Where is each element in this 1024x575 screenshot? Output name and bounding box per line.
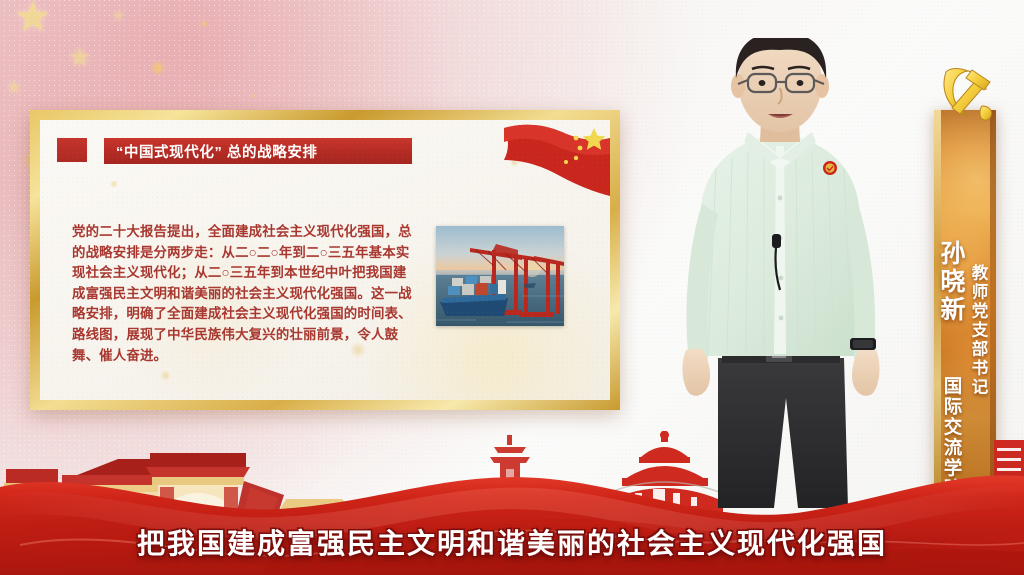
slide-speck <box>350 342 366 358</box>
speaker-name: 孙晓新 <box>938 240 968 324</box>
background-star-icon: ★ <box>68 44 91 70</box>
party-member-badge <box>823 161 837 175</box>
chinese-flag-corner-icon <box>490 120 610 200</box>
gold-fleck <box>150 60 166 76</box>
slide-body-text: 党的二十大报告提出，全面建成社会主义现代化强国，总的战略安排是分两步走：从二○二… <box>72 222 420 366</box>
video-frame: ★ ★ ★ ★ <box>0 0 1024 575</box>
title-accent-block <box>57 138 87 162</box>
gold-fleck <box>200 20 208 28</box>
port-photo <box>436 226 564 326</box>
banner-strip: 孙晓新 教师党支部书记 国际交流学院 <box>934 110 996 502</box>
body-paragraph: 党的二十大报告提出，全面建成社会主义现代化强国，总的战略安排是分两步走：从二○二… <box>72 222 420 366</box>
slide-title-bar: “中国式现代化” 总的战略安排 <box>104 138 412 164</box>
slide-speck <box>110 180 118 188</box>
gold-fleck <box>250 92 257 99</box>
background-star-icon: ★ <box>14 0 52 38</box>
slide-speck <box>510 158 519 167</box>
slide-content-area: “中国式现代化” 总的战略安排 党的二十大报告提出，全面建成社会主义现代化强国，… <box>40 120 610 400</box>
party-emblem-icon <box>938 62 996 124</box>
speaker-role: 教师党支部书记 <box>970 264 990 397</box>
subtitle-caption: 把我国建成富强民主文明和谐美丽的社会主义现代化强国 <box>0 522 1024 562</box>
presentation-slide[interactable]: “中国式现代化” 总的战略安排 党的二十大报告提出，全面建成社会主义现代化强国，… <box>30 110 620 410</box>
background-star-icon: ★ <box>6 78 22 96</box>
background-star-icon: ★ <box>112 8 125 22</box>
speaker-banner: 孙晓新 教师党支部书记 国际交流学院 <box>934 62 996 502</box>
page-title: “中国式现代化” 总的战略安排 <box>116 141 318 162</box>
slide-speck <box>160 370 171 381</box>
presenter-figure <box>648 38 928 508</box>
